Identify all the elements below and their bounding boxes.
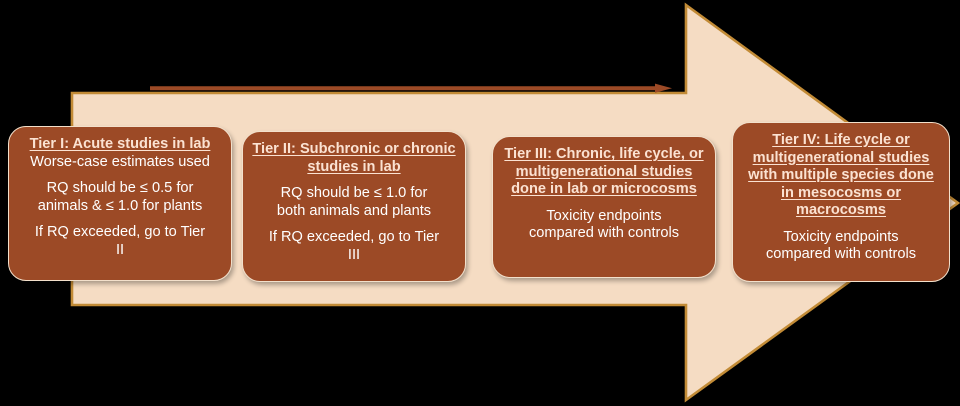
tier-box-1-p2-line-1: If RQ exceeded, go to Tier	[17, 224, 223, 242]
tier-box-4-title: Tier IV: Life cycle or multigenerational…	[741, 132, 941, 220]
tier-box-3-title: Tier III: Chronic, life cycle, or multig…	[501, 146, 707, 199]
tier-box-1-p2-line-2: II	[17, 242, 223, 260]
tier-box-2-p2-line-2: III	[251, 247, 457, 265]
tier-box-2-p1-line-1: RQ should be ≤ 1.0 for	[251, 185, 457, 203]
tier-box-4[interactable]: Tier IV: Life cycle or multigenerational…	[732, 122, 950, 282]
tier-box-1-p1-line-2: animals & ≤ 1.0 for plants	[17, 198, 223, 216]
tier-box-4-p1-line-2: compared with controls	[741, 246, 941, 264]
tier-box-2-title: Tier II: Subchronic or chronic studies i…	[251, 141, 457, 176]
progression-connector-arrow	[150, 83, 674, 95]
diagram-canvas: Tier I: Acute studies in lab Worse-case …	[0, 0, 960, 406]
tier-box-2-p1-line-2: both animals and plants	[251, 203, 457, 221]
tier-box-2[interactable]: Tier II: Subchronic or chronic studies i…	[242, 131, 466, 282]
tier-box-2-paragraph-1: RQ should be ≤ 1.0 for both animals and …	[251, 185, 457, 220]
tier-box-4-p1-line-1: Toxicity endpoints	[741, 229, 941, 247]
tier-box-4-paragraph-1: Toxicity endpoints compared with control…	[741, 229, 941, 264]
tier-box-1-subtitle: Worse-case estimates used	[17, 154, 223, 172]
tier-box-2-p2-line-1: If RQ exceeded, go to Tier	[251, 229, 457, 247]
tier-box-3-p1-line-2: compared with controls	[501, 225, 707, 243]
tier-box-3-paragraph-1: Toxicity endpoints compared with control…	[501, 208, 707, 243]
tier-box-3[interactable]: Tier III: Chronic, life cycle, or multig…	[492, 136, 716, 278]
tier-box-1[interactable]: Tier I: Acute studies in lab Worse-case …	[8, 126, 232, 281]
tier-box-1-paragraph-2: If RQ exceeded, go to Tier II	[17, 224, 223, 259]
tier-box-2-paragraph-2: If RQ exceeded, go to Tier III	[251, 229, 457, 264]
tier-box-3-p1-line-1: Toxicity endpoints	[501, 208, 707, 226]
tier-box-1-paragraph-1: RQ should be ≤ 0.5 for animals & ≤ 1.0 f…	[17, 180, 223, 215]
tier-box-1-p1-line-1: RQ should be ≤ 0.5 for	[17, 180, 223, 198]
tier-box-1-title: Tier I: Acute studies in lab	[17, 136, 223, 154]
